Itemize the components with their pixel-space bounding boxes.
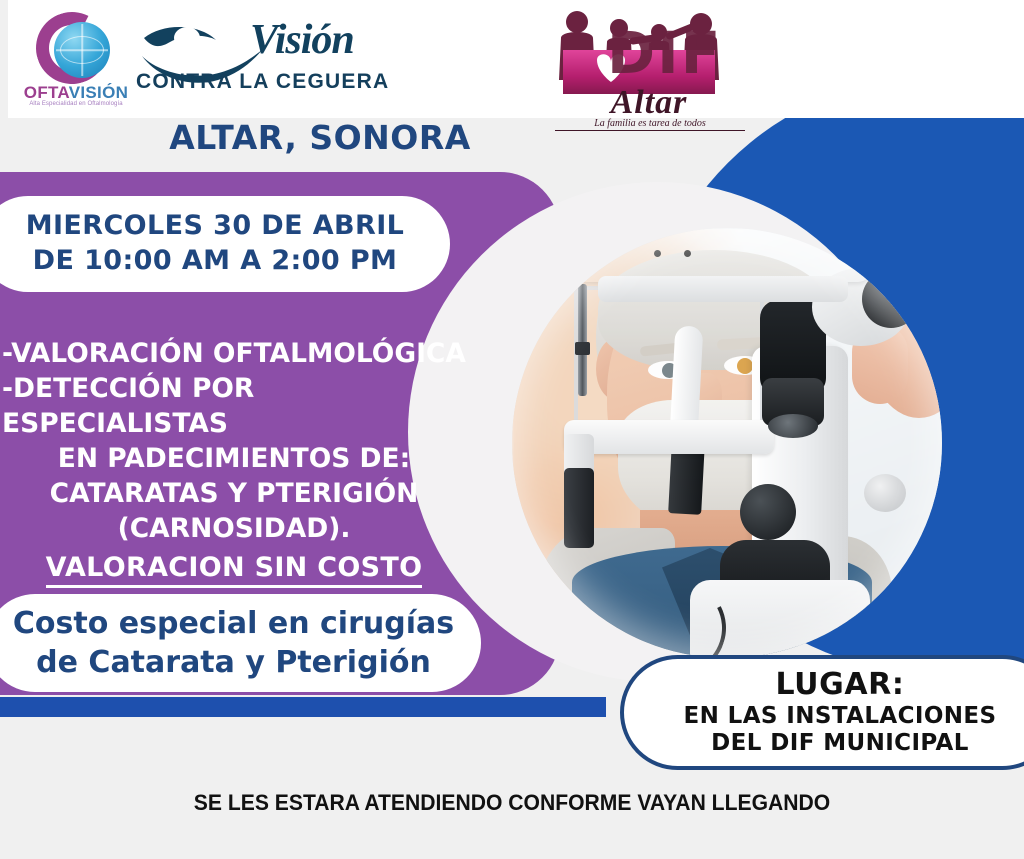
slitlamp-knob: [740, 484, 796, 540]
slitlamp-rod: [578, 284, 587, 396]
dif-altar-logo: DIF DIF Altar La familia es tarea de tod…: [545, 2, 745, 136]
slitlamp-rod-joint: [575, 342, 590, 355]
free-valuation-text: VALORACION SIN COSTO: [46, 552, 423, 588]
vision-script-word: Visión: [250, 16, 354, 64]
slitlamp-screw-1: [654, 250, 661, 257]
date-line-2: DE 10:00 AM A 2:00 PM: [33, 244, 398, 279]
date-card: MIERCOLES 30 DE ABRIL DE 10:00 AM A 2:00…: [0, 196, 450, 292]
slitlamp-top-arm: [572, 228, 872, 282]
slitlamp-scope-lens: [768, 414, 818, 438]
slitlamp-top-arm-lower: [598, 276, 848, 302]
slitlamp-screw-2: [684, 250, 691, 257]
vision-subtitle: CONTRA LA CEGUERA: [136, 70, 352, 94]
location-line-1: EN LAS INSTALACIONES: [683, 703, 996, 731]
page-title: ALTAR, SONORA: [0, 118, 640, 157]
free-valuation-label: VALORACION SIN COSTO: [0, 552, 468, 583]
oftavision-logo: OFTAVISIÓN Alta Especialidad en Oftalmol…: [14, 6, 134, 110]
service-line-1: -VALORACIÓN OFTALMOLÓGICA: [0, 337, 468, 372]
services-list: -VALORACIÓN OFTALMOLÓGICA -DETECCIÓN POR…: [0, 337, 468, 547]
dif-letters: DIF: [607, 24, 722, 82]
slitlamp-knob-secondary: [864, 474, 906, 512]
service-line-4: CATARATAS Y PTERIGIÓN: [0, 477, 468, 512]
oftavision-logo-name: OFTAVISIÓN: [14, 84, 138, 101]
patient-exam-photo: [512, 228, 942, 658]
slitlamp-chin-post-dark: [564, 468, 594, 548]
vision-contra-ceguera-logo: Visión CONTRA LA CEGUERA: [132, 8, 352, 104]
date-line-1: MIERCOLES 30 DE ABRIL: [26, 209, 405, 244]
cost-card: Costo especial en cirugías de Catarata y…: [0, 594, 481, 692]
slitlamp-chin-bar: [564, 420, 774, 454]
service-line-2: -DETECCIÓN POR ESPECIALISTAS: [0, 372, 468, 442]
oftavision-name-part1: OFTA: [24, 83, 69, 102]
photo-inner: [512, 228, 942, 658]
oftavision-name-part2: VISIÓN: [69, 83, 128, 102]
service-line-5: (CARNOSIDAD).: [0, 512, 468, 547]
blue-underline-bar: [0, 697, 606, 717]
event-poster: OFTAVISIÓN Alta Especialidad en Oftalmol…: [0, 0, 1024, 859]
footer-note: SE LES ESTARA ATENDIENDO CONFORME VAYAN …: [20, 790, 1003, 816]
globe-ring-icon: [60, 36, 104, 64]
oftavision-tagline: Alta Especialidad en Oftalmología: [14, 101, 138, 107]
location-line-2: DEL DIF MUNICIPAL: [711, 730, 969, 758]
cost-line-2: de Catarata y Pterigión: [36, 643, 431, 682]
service-line-3: EN PADECIMIENTOS DE:: [0, 442, 468, 477]
cost-line-1: Costo especial en cirugías: [13, 604, 454, 643]
location-title: LUGAR:: [776, 667, 905, 702]
slitlamp-eyepiece-lens: [862, 270, 920, 328]
dif-town-name: Altar: [559, 84, 739, 122]
location-card: LUGAR: EN LAS INSTALACIONES DEL DIF MUNI…: [620, 655, 1024, 770]
